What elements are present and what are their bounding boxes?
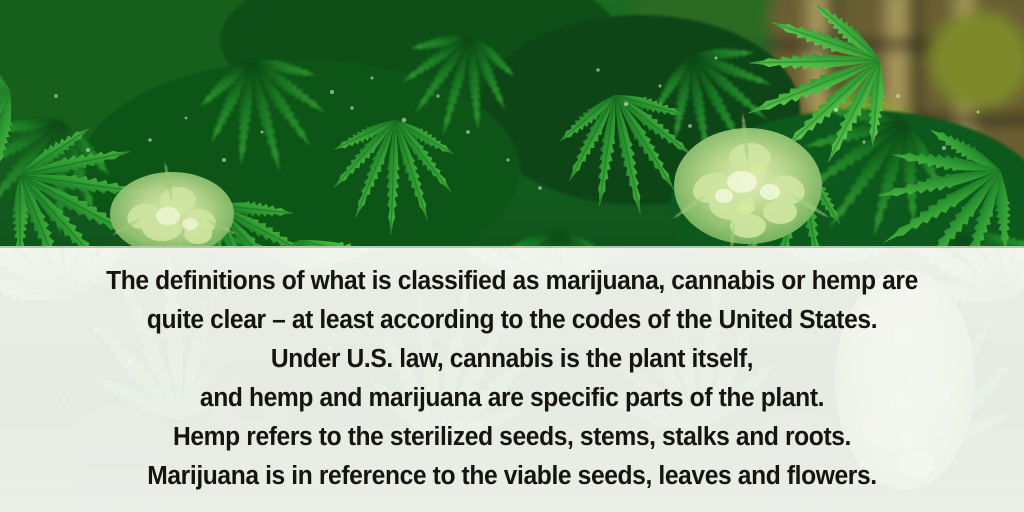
poster-image: The definitions of what is classified as…: [0, 0, 1024, 512]
caption-line-4: and hemp and marijuana are specific part…: [35, 379, 988, 418]
caption-line-6: Marijuana is in reference to the viable …: [35, 457, 988, 496]
caption-panel: The definitions of what is classified as…: [0, 246, 1024, 512]
caption-line-1: The definitions of what is classified as…: [35, 262, 988, 301]
caption-line-3: Under U.S. law, cannabis is the plant it…: [35, 340, 988, 379]
caption-line-5: Hemp refers to the sterilized seeds, ste…: [35, 418, 988, 457]
caption-text-block: The definitions of what is classified as…: [0, 246, 1024, 512]
caption-line-2: quite clear – at least according to the …: [35, 301, 988, 340]
cannabis-leaf-icon: [0, 0, 1024, 246]
cannabis-photo: [0, 0, 1024, 246]
